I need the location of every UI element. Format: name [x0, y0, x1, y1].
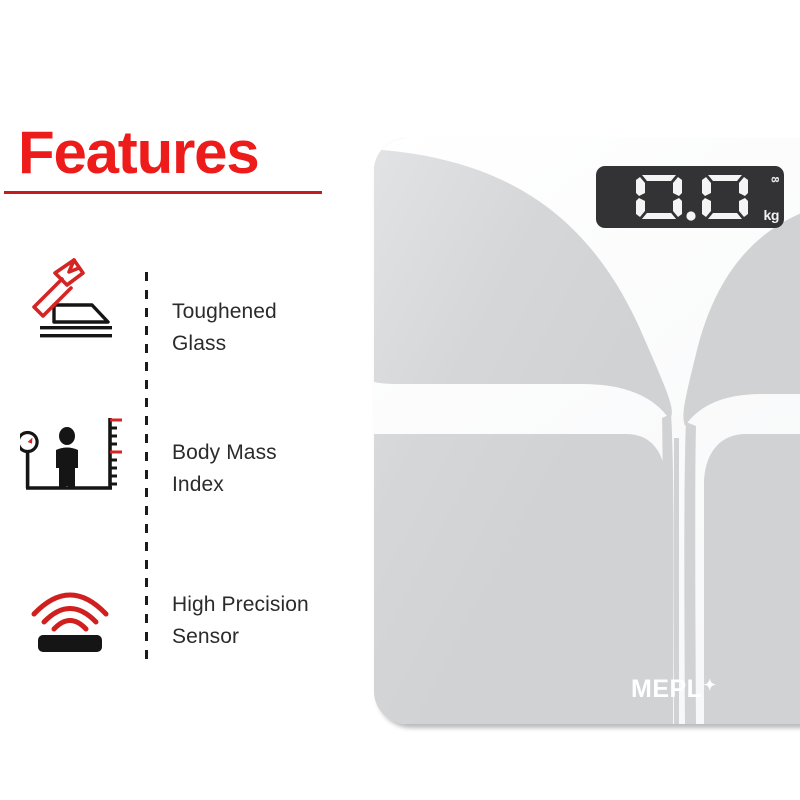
feature-label-line-1: Toughened: [172, 300, 277, 323]
feature-label-line-2: Index: [172, 473, 224, 496]
feature-label-toughened-glass: Toughened Glass: [172, 296, 367, 360]
brand-name-text: MEPL: [631, 677, 702, 702]
lcd-weight-value: [634, 171, 752, 223]
feature-label-body-mass-index: Body Mass Index: [172, 437, 367, 501]
precision-sensor-icon: [20, 572, 132, 664]
lcd-unit-label: kg: [763, 208, 779, 222]
vertical-dashed-divider: [145, 272, 148, 660]
hammer-glass-icon: [20, 252, 132, 344]
infographic-canvas: Features: [0, 0, 800, 800]
brand-mark-icon: ✦: [703, 678, 716, 693]
feature-label-high-precision-sensor: High Precision Sensor: [172, 589, 367, 653]
product-image-weighing-scale: 8 kg MEPL ✦: [374, 138, 800, 728]
feature-label-line-1: High Precision: [172, 593, 309, 616]
brand-logo: MEPL ✦: [631, 677, 716, 702]
lcd-display: 8 kg: [596, 166, 784, 228]
seven-segment-digits: [634, 171, 752, 223]
features-panel: Features: [0, 0, 372, 800]
feature-label-line-2: Sensor: [172, 625, 239, 648]
body-mass-index-icon: [20, 412, 132, 504]
feature-label-line-1: Body Mass: [172, 441, 277, 464]
lcd-mode-indicator-icon: 8: [768, 176, 779, 182]
scale-glass-platform: 8 kg MEPL ✦: [374, 138, 800, 724]
title-underline-rule: [4, 191, 322, 194]
feature-label-line-2: Glass: [172, 332, 226, 355]
page-title: Features: [18, 123, 259, 183]
